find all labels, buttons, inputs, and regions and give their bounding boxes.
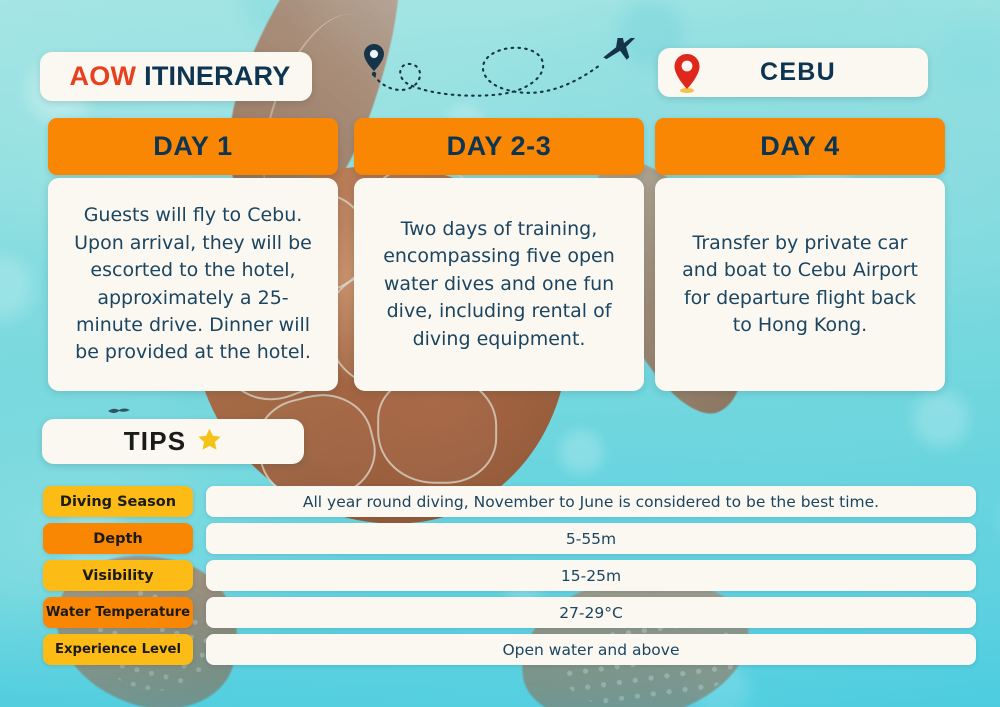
- page-title: ITINERARY: [144, 61, 290, 92]
- tip-label-text: Water Temperature: [46, 605, 190, 620]
- table-row: Diving Season All year round diving, Nov…: [43, 486, 976, 517]
- map-pin-icon: [672, 53, 702, 93]
- tip-label-experience-level: Experience Level: [43, 634, 193, 665]
- tip-label-text: Depth: [93, 531, 143, 547]
- tip-value-text: 27-29°C: [559, 604, 623, 622]
- tip-value-depth: 5-55m: [206, 523, 976, 554]
- tip-label-text: Visibility: [82, 568, 153, 584]
- day-2-card: Two days of training, encompassing five …: [354, 178, 644, 391]
- tip-value-text: 5-55m: [566, 530, 616, 548]
- day-2-header: DAY 2-3: [354, 118, 644, 175]
- destination-label: CEBU: [702, 58, 928, 87]
- tip-value-text: 15-25m: [561, 567, 621, 585]
- day-2-description: Two days of training, encompassing five …: [373, 216, 625, 353]
- page-title-accent: AOW: [70, 61, 137, 92]
- tip-value-diving-season: All year round diving, November to June …: [206, 486, 976, 517]
- day-1-card: Guests will fly to Cebu. Upon arrival, t…: [48, 178, 338, 391]
- tips-table: Diving Season All year round diving, Nov…: [43, 486, 976, 671]
- tips-title-badge: TIPS: [42, 419, 304, 464]
- tips-heading: TIPS: [124, 426, 187, 457]
- tip-label-diving-season: Diving Season: [43, 486, 193, 517]
- day-1-description: Guests will fly to Cebu. Upon arrival, t…: [67, 202, 319, 366]
- star-icon: [197, 427, 222, 457]
- tip-value-text: Open water and above: [502, 641, 679, 659]
- day-1-heading: DAY 1: [153, 131, 233, 162]
- day-1-header: DAY 1: [48, 118, 338, 175]
- tip-label-text: Experience Level: [55, 642, 181, 657]
- table-row: Visibility 15-25m: [43, 560, 976, 591]
- tip-label-visibility: Visibility: [43, 560, 193, 591]
- table-row: Depth 5-55m: [43, 523, 976, 554]
- tip-value-text: All year round diving, November to June …: [303, 493, 879, 511]
- tip-label-depth: Depth: [43, 523, 193, 554]
- day-4-card: Transfer by private car and boat to Cebu…: [655, 178, 945, 391]
- table-row: Water Temperature 27-29°C: [43, 597, 976, 628]
- day-4-description: Transfer by private car and boat to Cebu…: [674, 230, 926, 339]
- destination-badge: CEBU: [658, 48, 928, 97]
- tip-label-water-temperature: Water Temperature: [43, 597, 193, 628]
- table-row: Experience Level Open water and above: [43, 634, 976, 665]
- tip-label-text: Diving Season: [60, 494, 176, 510]
- day-4-heading: DAY 4: [760, 131, 840, 162]
- day-4-header: DAY 4: [655, 118, 945, 175]
- tip-value-experience-level: Open water and above: [206, 634, 976, 665]
- tip-value-water-temperature: 27-29°C: [206, 597, 976, 628]
- itinerary-title-badge: AOW ITINERARY: [40, 52, 312, 101]
- tip-value-visibility: 15-25m: [206, 560, 976, 591]
- day-2-heading: DAY 2-3: [447, 131, 552, 162]
